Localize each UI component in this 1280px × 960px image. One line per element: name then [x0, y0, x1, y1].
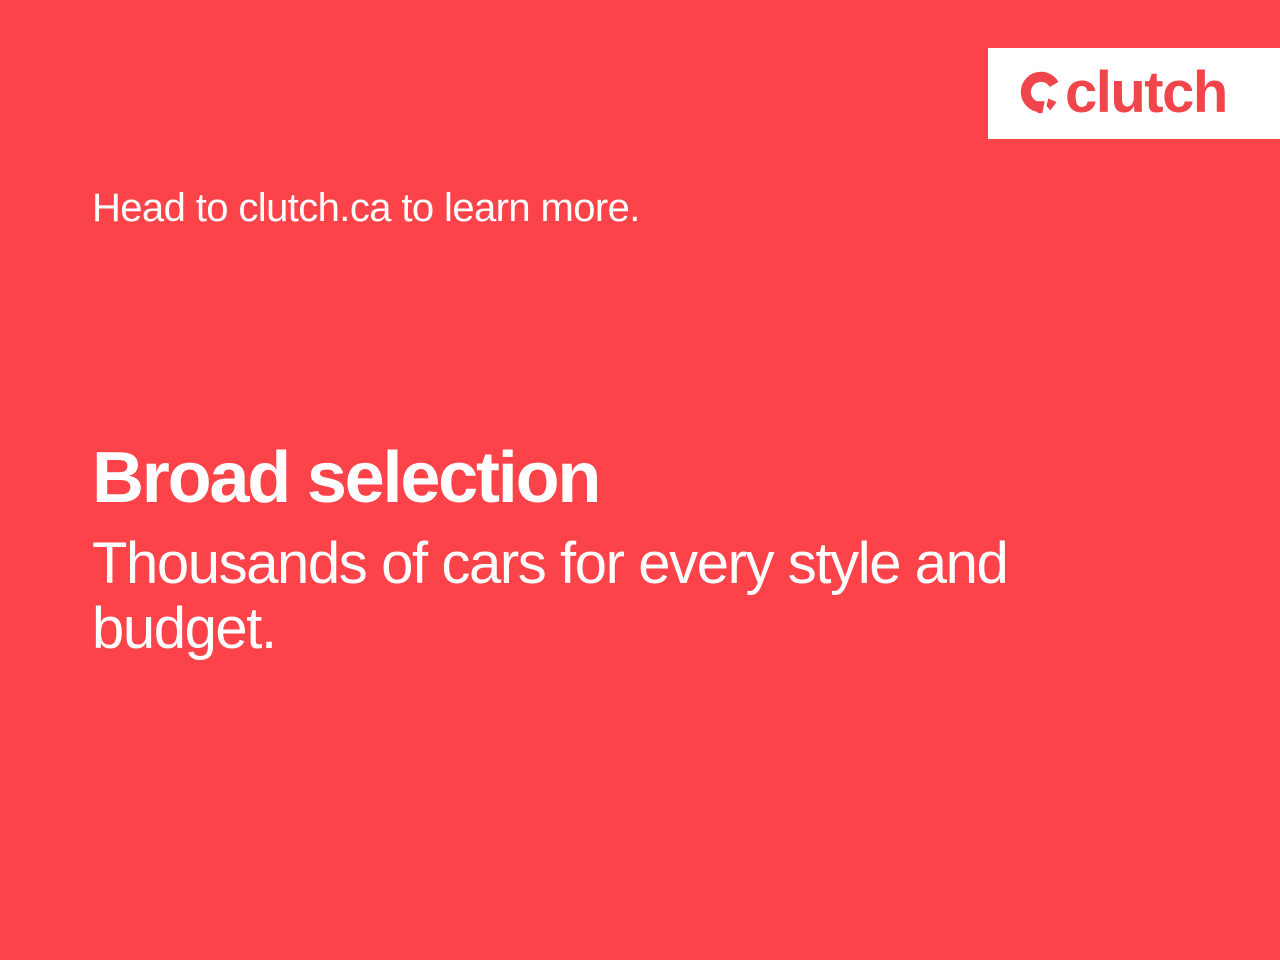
logo-lockup: clutch — [1018, 63, 1227, 121]
clutch-disc-c-icon — [1018, 69, 1064, 115]
subhead-text: Thousands of cars for every style and bu… — [92, 518, 1022, 661]
slide-canvas: clutch Head to clutch.ca to learn more. … — [0, 0, 1280, 960]
kicker-text: Head to clutch.ca to learn more. — [92, 181, 640, 235]
page-title: Broad selection — [92, 438, 1092, 518]
clutch-logo-plate[interactable]: clutch — [988, 48, 1280, 139]
clutch-wordmark: clutch — [1065, 64, 1227, 122]
headline-block: Broad selection Thousands of cars for ev… — [92, 438, 1092, 661]
